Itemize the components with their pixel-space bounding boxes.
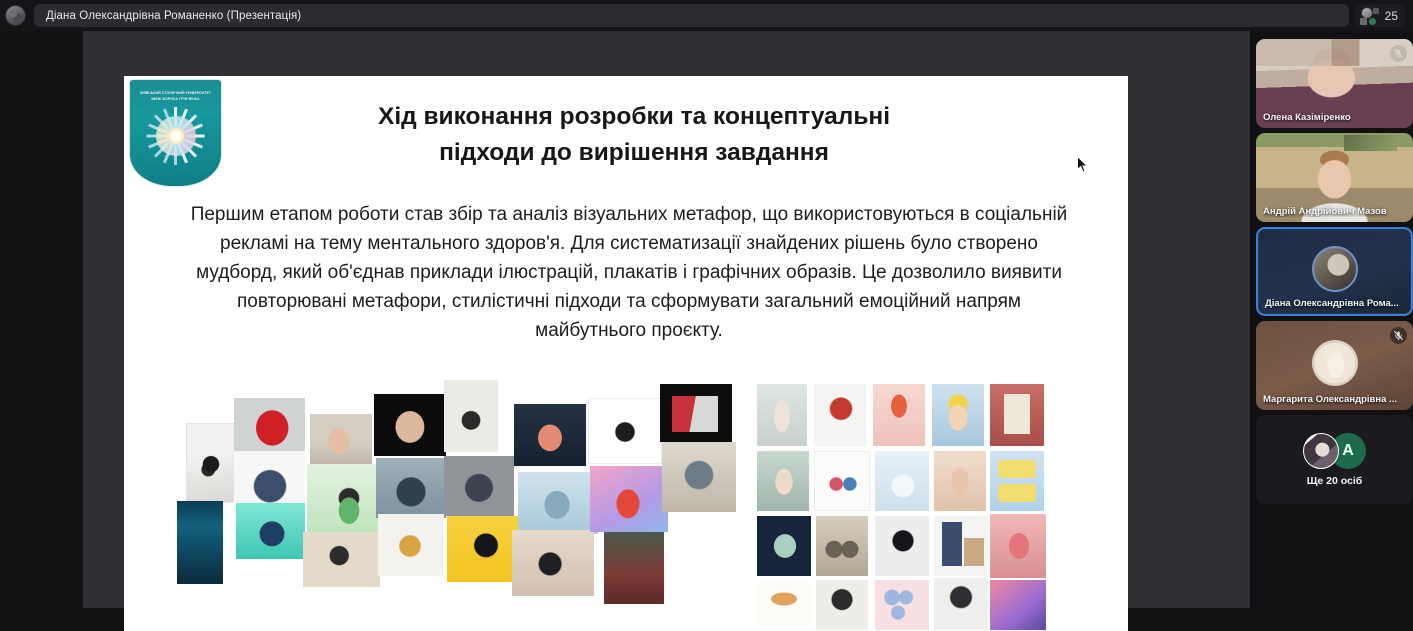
page-title: Діана Олександрівна Романенко (Презентац…: [46, 10, 301, 22]
grid-image: [990, 580, 1046, 630]
grid-image: [884, 392, 914, 436]
participant-tile-3-active-speaker[interactable]: Діана Олександрівна Рома...: [1256, 227, 1413, 316]
grid-image: [824, 466, 862, 502]
grid-image: [769, 528, 801, 564]
grid-image: [888, 466, 918, 502]
grid-image: [998, 484, 1036, 502]
mic-muted-icon: [1390, 327, 1407, 344]
participant-filmstrip[interactable]: Олена Казіміренко Андрій Андрійович Мазо…: [1250, 31, 1413, 608]
collage-image: [464, 526, 508, 570]
grid-image: [1002, 524, 1036, 568]
collage-image: [676, 452, 722, 500]
collage-image: [329, 486, 369, 530]
grid-image: [768, 392, 796, 440]
logo-line-1: КИЇВСЬКИЙ СТОЛИЧНИЙ УНІВЕРСИТЕТ: [130, 91, 221, 95]
mouse-pointer-icon: [1077, 156, 1089, 174]
collage-image: [320, 422, 358, 462]
collage-image: [604, 532, 664, 604]
grid-image: [764, 588, 804, 610]
collage-image: [534, 482, 580, 526]
collage-image: [386, 402, 432, 450]
participant-name: Діана Олександрівна Рома...: [1265, 298, 1405, 309]
grid-image: [824, 528, 860, 566]
participant-tile-1[interactable]: Олена Казіміренко: [1256, 39, 1413, 128]
avatar: [1303, 433, 1339, 469]
participants-chip[interactable]: 25: [1355, 4, 1405, 27]
avatar: [1312, 340, 1358, 386]
collage-image: [248, 404, 292, 450]
participant-tile-overflow[interactable]: A Ще 20 осіб: [1256, 415, 1413, 504]
participant-tile-4[interactable]: Маргарита Олександрівна ...: [1256, 321, 1413, 410]
slide-title-line-2: підходи до вирішення завдання: [284, 135, 984, 171]
collage-image: [254, 514, 290, 550]
grid-image: [942, 392, 974, 438]
collage-image: [604, 410, 646, 454]
collage-image: [194, 448, 228, 484]
logo-line-2: ІМЕНІ БОРИСА ГРІНЧЕНКА: [130, 97, 221, 101]
participant-name: Андрій Андрійович Мазов: [1263, 206, 1407, 217]
shared-slide[interactable]: КИЇВСЬКИЙ СТОЛИЧНИЙ УНІВЕРСИТЕТ ІМЕНІ БО…: [124, 76, 1128, 631]
grid-image: [882, 586, 922, 624]
collage-image: [320, 538, 360, 578]
grid-image: [946, 584, 976, 628]
grid-image: [946, 460, 974, 502]
grid-image: [826, 586, 858, 626]
collage-image: [606, 478, 650, 524]
grid-image: [998, 460, 1036, 478]
collage-image: [528, 416, 572, 458]
slide-title: Хід виконання розробки та концептуальні …: [284, 99, 984, 171]
avatar: [1312, 246, 1358, 292]
grid-image: [964, 538, 984, 566]
mudboard: [124, 356, 1128, 631]
presentation-stage[interactable]: КИЇВСЬКИЙ СТОЛИЧНИЙ УНІВЕРСИТЕТ ІМЕНІ БО…: [0, 31, 1250, 608]
collage-image: [672, 396, 718, 432]
slide-body-text: Першим етапом роботи став збір та аналіз…: [179, 200, 1079, 345]
university-logo: КИЇВСЬКИЙ СТОЛИЧНИЙ УНІВЕРСИТЕТ ІМЕНІ БО…: [129, 79, 222, 187]
mic-muted-icon: [1390, 45, 1407, 62]
avatar: [5, 5, 26, 26]
top-bar: Діана Олександрівна Романенко (Презентац…: [0, 0, 1413, 31]
participant-tile-2[interactable]: Андрій Андрійович Мазов: [1256, 133, 1413, 222]
overflow-label: Ще 20 осіб: [1256, 475, 1413, 487]
participants-count: 25: [1385, 9, 1398, 23]
collage-image: [390, 526, 430, 566]
collage-image: [177, 501, 223, 584]
grid-image: [826, 392, 856, 436]
grid-image: [1004, 394, 1030, 434]
grid-image: [942, 522, 962, 566]
collage-image: [454, 396, 488, 438]
collage-image: [458, 466, 500, 508]
collage-image: [390, 470, 432, 512]
collage-image: [528, 540, 574, 586]
grid-image: [888, 524, 918, 566]
grid-image: [769, 460, 799, 502]
people-group-icon: [1359, 7, 1379, 25]
meeting-title-bar[interactable]: Діана Олександрівна Романенко (Презентац…: [34, 4, 1349, 27]
participant-name: Олена Казіміренко: [1263, 112, 1407, 123]
star-compass-emblem-icon: [147, 107, 205, 165]
participant-name: Маргарита Олександрівна ...: [1263, 394, 1407, 405]
overflow-avatars: A: [1256, 433, 1413, 469]
slide-title-line-1: Хід виконання розробки та концептуальні: [378, 103, 890, 130]
